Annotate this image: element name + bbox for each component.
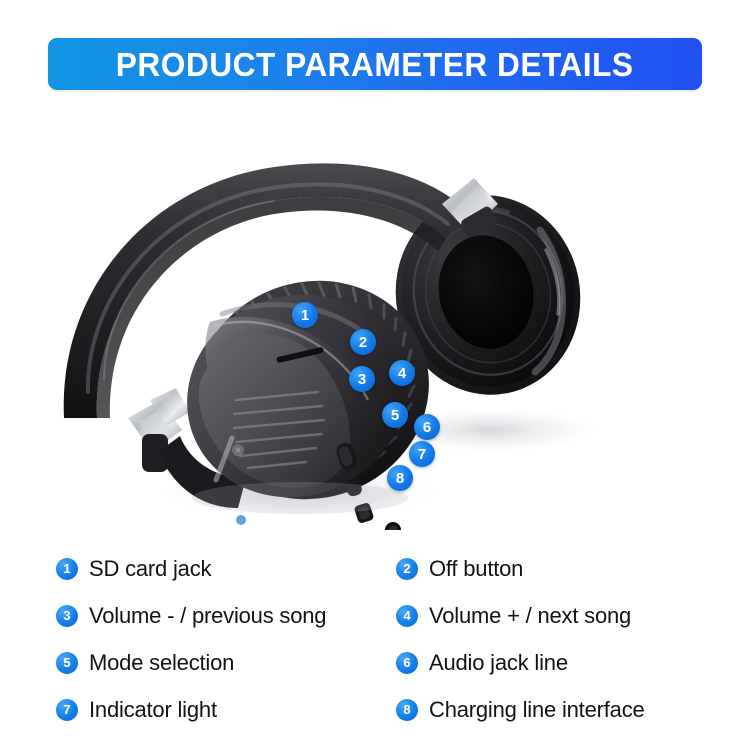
- callout-marker-2[interactable]: 2: [350, 329, 376, 355]
- callout-marker-8[interactable]: 8: [387, 465, 413, 491]
- legend-item-5[interactable]: 5 Mode selection: [56, 639, 396, 686]
- legend-badge-7-icon: 7: [56, 699, 78, 721]
- legend-badge-5-icon: 5: [56, 652, 78, 674]
- legend-label-8: Charging line interface: [429, 697, 645, 723]
- page-title: PRODUCT PARAMETER DETAILS: [116, 48, 634, 81]
- callout-marker-8-number: 8: [396, 471, 404, 486]
- callout-marker-3-number: 3: [358, 372, 366, 387]
- legend-badge-6-icon: 6: [396, 652, 418, 674]
- legend-badge-1-icon: 1: [56, 558, 78, 580]
- legend-label-6: Audio jack line: [429, 650, 568, 676]
- callout-marker-4-number: 4: [398, 366, 406, 381]
- headphones-product-photo: [0, 100, 750, 530]
- legend-item-8[interactable]: 8 Charging line interface: [396, 686, 750, 733]
- header-banner: PRODUCT PARAMETER DETAILS: [48, 38, 702, 90]
- product-image-stage: 1 2 3 4 5 6 7 8: [0, 100, 750, 530]
- legend-badge-8-icon: 8: [396, 699, 418, 721]
- legend-item-3[interactable]: 3 Volume - / previous song: [56, 592, 396, 639]
- product-detail-page: PRODUCT PARAMETER DETAILS: [0, 0, 750, 750]
- callout-marker-5-number: 5: [391, 408, 399, 423]
- callout-marker-1-number: 1: [301, 308, 309, 323]
- legend-item-6[interactable]: 6 Audio jack line: [396, 639, 750, 686]
- legend-badge-2-icon: 2: [396, 558, 418, 580]
- callout-marker-6-number: 6: [423, 420, 431, 435]
- legend-label-4: Volume + / next song: [429, 603, 631, 629]
- legend-label-5: Mode selection: [89, 650, 234, 676]
- callout-marker-6[interactable]: 6: [414, 414, 440, 440]
- legend-item-1[interactable]: 1 SD card jack: [56, 545, 396, 592]
- legend-badge-3-icon: 3: [56, 605, 78, 627]
- parameter-legend: 1 SD card jack 2 Off button 3 Volume - /…: [0, 545, 750, 740]
- legend-item-7[interactable]: 7 Indicator light: [56, 686, 396, 733]
- legend-label-7: Indicator light: [89, 697, 217, 723]
- legend-label-3: Volume - / previous song: [89, 603, 326, 629]
- callout-marker-7-number: 7: [418, 447, 426, 462]
- callout-marker-3[interactable]: 3: [349, 366, 375, 392]
- legend-badge-4-icon: 4: [396, 605, 418, 627]
- legend-item-2[interactable]: 2 Off button: [396, 545, 750, 592]
- callout-marker-7[interactable]: 7: [409, 441, 435, 467]
- callout-marker-4[interactable]: 4: [389, 360, 415, 386]
- callout-marker-5[interactable]: 5: [382, 402, 408, 428]
- callout-marker-2-number: 2: [359, 335, 367, 350]
- callout-marker-1[interactable]: 1: [292, 302, 318, 328]
- legend-item-4[interactable]: 4 Volume + / next song: [396, 592, 750, 639]
- legend-label-1: SD card jack: [89, 556, 211, 582]
- legend-label-2: Off button: [429, 556, 523, 582]
